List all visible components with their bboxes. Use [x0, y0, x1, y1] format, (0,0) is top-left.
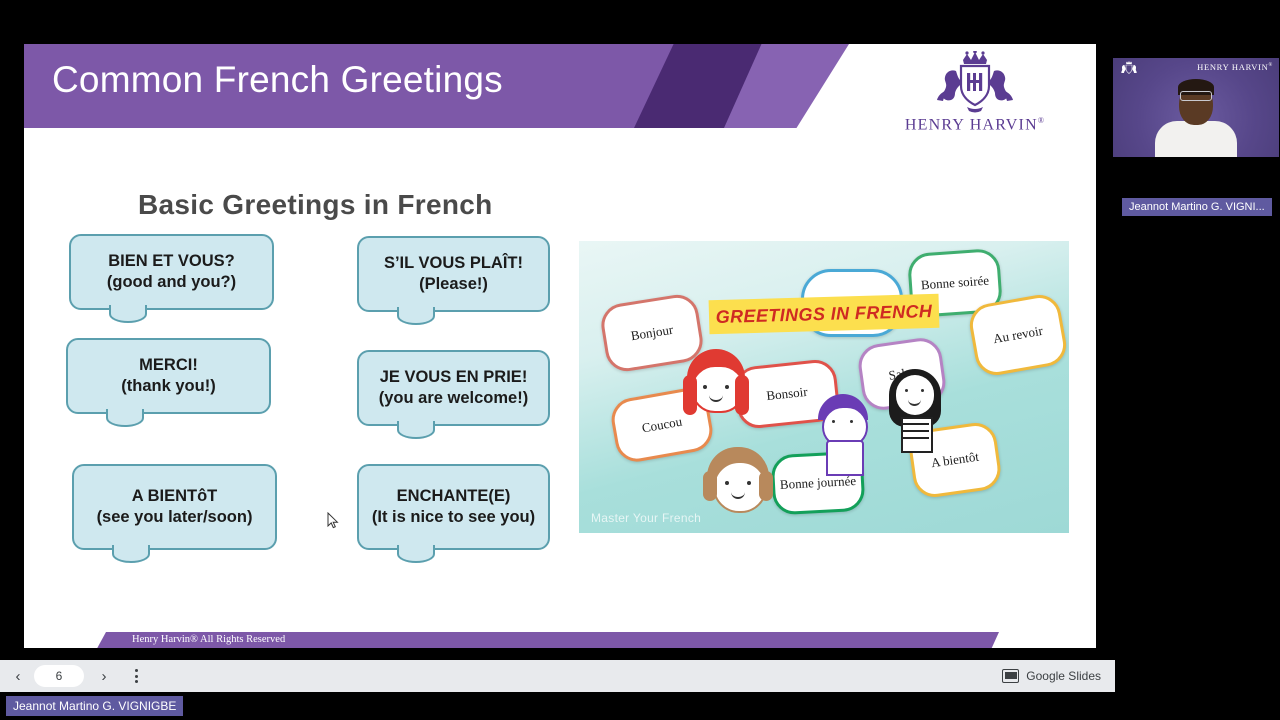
greeting-translation: (see you later/soon): [97, 507, 253, 528]
greeting-translation: (thank you!): [121, 376, 215, 397]
previous-slide-button[interactable]: ‹: [4, 662, 32, 690]
video-name-label: Jeannot Martino G. VIGNI...: [1122, 198, 1272, 216]
video-tile-presenter[interactable]: HENRY HARVIN®: [1113, 58, 1279, 157]
screen: Common French Greetings: [0, 0, 1280, 720]
greeting-term: S’IL VOUS PLAÎT!: [384, 253, 523, 274]
slides-toolbar: ‹ 6 › Google Slides: [0, 660, 1115, 692]
mouse-cursor: [327, 512, 339, 530]
app-indicator-label: Google Slides: [1026, 669, 1101, 683]
greeting-translation: (you are welcome!): [379, 388, 528, 409]
more-vertical-icon: [135, 669, 138, 683]
speech-bubble-text: Bonjour: [630, 322, 674, 343]
speech-bubble-text: A bientôt: [930, 449, 980, 470]
photo-banner-text: GREETINGS IN FRENCH: [715, 300, 932, 327]
photo-banner: GREETINGS IN FRENCH: [709, 294, 940, 334]
slide-canvas[interactable]: Common French Greetings: [24, 44, 1096, 648]
page-number-input[interactable]: 6: [34, 665, 84, 687]
henry-harvin-crest-icon-small: [1119, 61, 1139, 76]
greeting-term: JE VOUS EN PRIE!: [379, 367, 528, 388]
greeting-bubble-je-vous-en-prie: JE VOUS EN PRIE! (you are welcome!): [357, 350, 550, 426]
app-indicator: Google Slides: [1002, 669, 1115, 683]
greeting-translation: (good and you?): [107, 272, 236, 293]
greeting-bubble-merci: MERCI! (thank you!): [66, 338, 271, 414]
henry-harvin-crest-icon: [923, 51, 1027, 115]
google-slides-icon: [1002, 669, 1019, 683]
greeting-bubble-bien-et-vous: BIEN ET VOUS? (good and you?): [69, 234, 274, 310]
greeting-bubble-sil-vous-plait: S’IL VOUS PLAÎT! (Please!): [357, 236, 550, 312]
slide-subheading: Basic Greetings in French: [138, 189, 493, 221]
greeting-term: BIEN ET VOUS?: [107, 251, 236, 272]
greeting-translation: (It is nice to see you): [372, 507, 535, 528]
presenter-glasses: [1180, 91, 1212, 101]
photo-watermark: Master Your French: [591, 511, 701, 525]
speech-bubble-text: Bonsoir: [766, 384, 809, 403]
slide-footer-text: Henry Harvin® All Rights Reserved: [132, 634, 285, 645]
speech-bubble-text: Coucou: [641, 414, 683, 436]
video-brand-text: HENRY HARVIN: [1197, 62, 1268, 72]
page-title: Common French Greetings: [52, 59, 503, 101]
slide-footer: Henry Harvin® All Rights Reserved: [94, 632, 999, 648]
greeting-term: MERCI!: [121, 355, 215, 376]
video-brand-label: HENRY HARVIN®: [1197, 62, 1273, 72]
logo-wordmark: HENRY HARVIN®: [900, 116, 1050, 134]
greeting-bubble-enchante: ENCHANTE(E) (It is nice to see you): [357, 464, 550, 550]
greeting-translation: (Please!): [384, 274, 523, 295]
greetings-photo: Bonne soirée Bonjour GREETINGS IN FRENCH…: [579, 241, 1069, 533]
more-options-button[interactable]: [122, 662, 150, 690]
presenter-shirt: [1155, 121, 1237, 157]
participant-name-tag: Jeannot Martino G. VIGNIGBE: [6, 696, 183, 716]
speech-bubble-au-revoir: Au revoir: [966, 292, 1069, 379]
greeting-bubble-a-bientot: A BIENTôT (see you later/soon): [72, 464, 277, 550]
speech-bubble-text: Bonne soirée: [920, 273, 989, 293]
video-brand-registered: ®: [1269, 63, 1274, 68]
greeting-term: A BIENTôT: [97, 486, 253, 507]
henry-harvin-logo: HENRY HARVIN®: [900, 51, 1050, 134]
logo-registered-mark: ®: [1038, 116, 1045, 125]
speech-bubble-bonjour: Bonjour: [598, 292, 705, 374]
greeting-term: ENCHANTE(E): [372, 486, 535, 507]
speech-bubble-text: Bonne journée: [780, 474, 857, 493]
next-slide-button[interactable]: ›: [90, 662, 118, 690]
logo-wordmark-text: HENRY HARVIN: [905, 116, 1038, 133]
speech-bubble-text: Au revoir: [992, 323, 1044, 346]
